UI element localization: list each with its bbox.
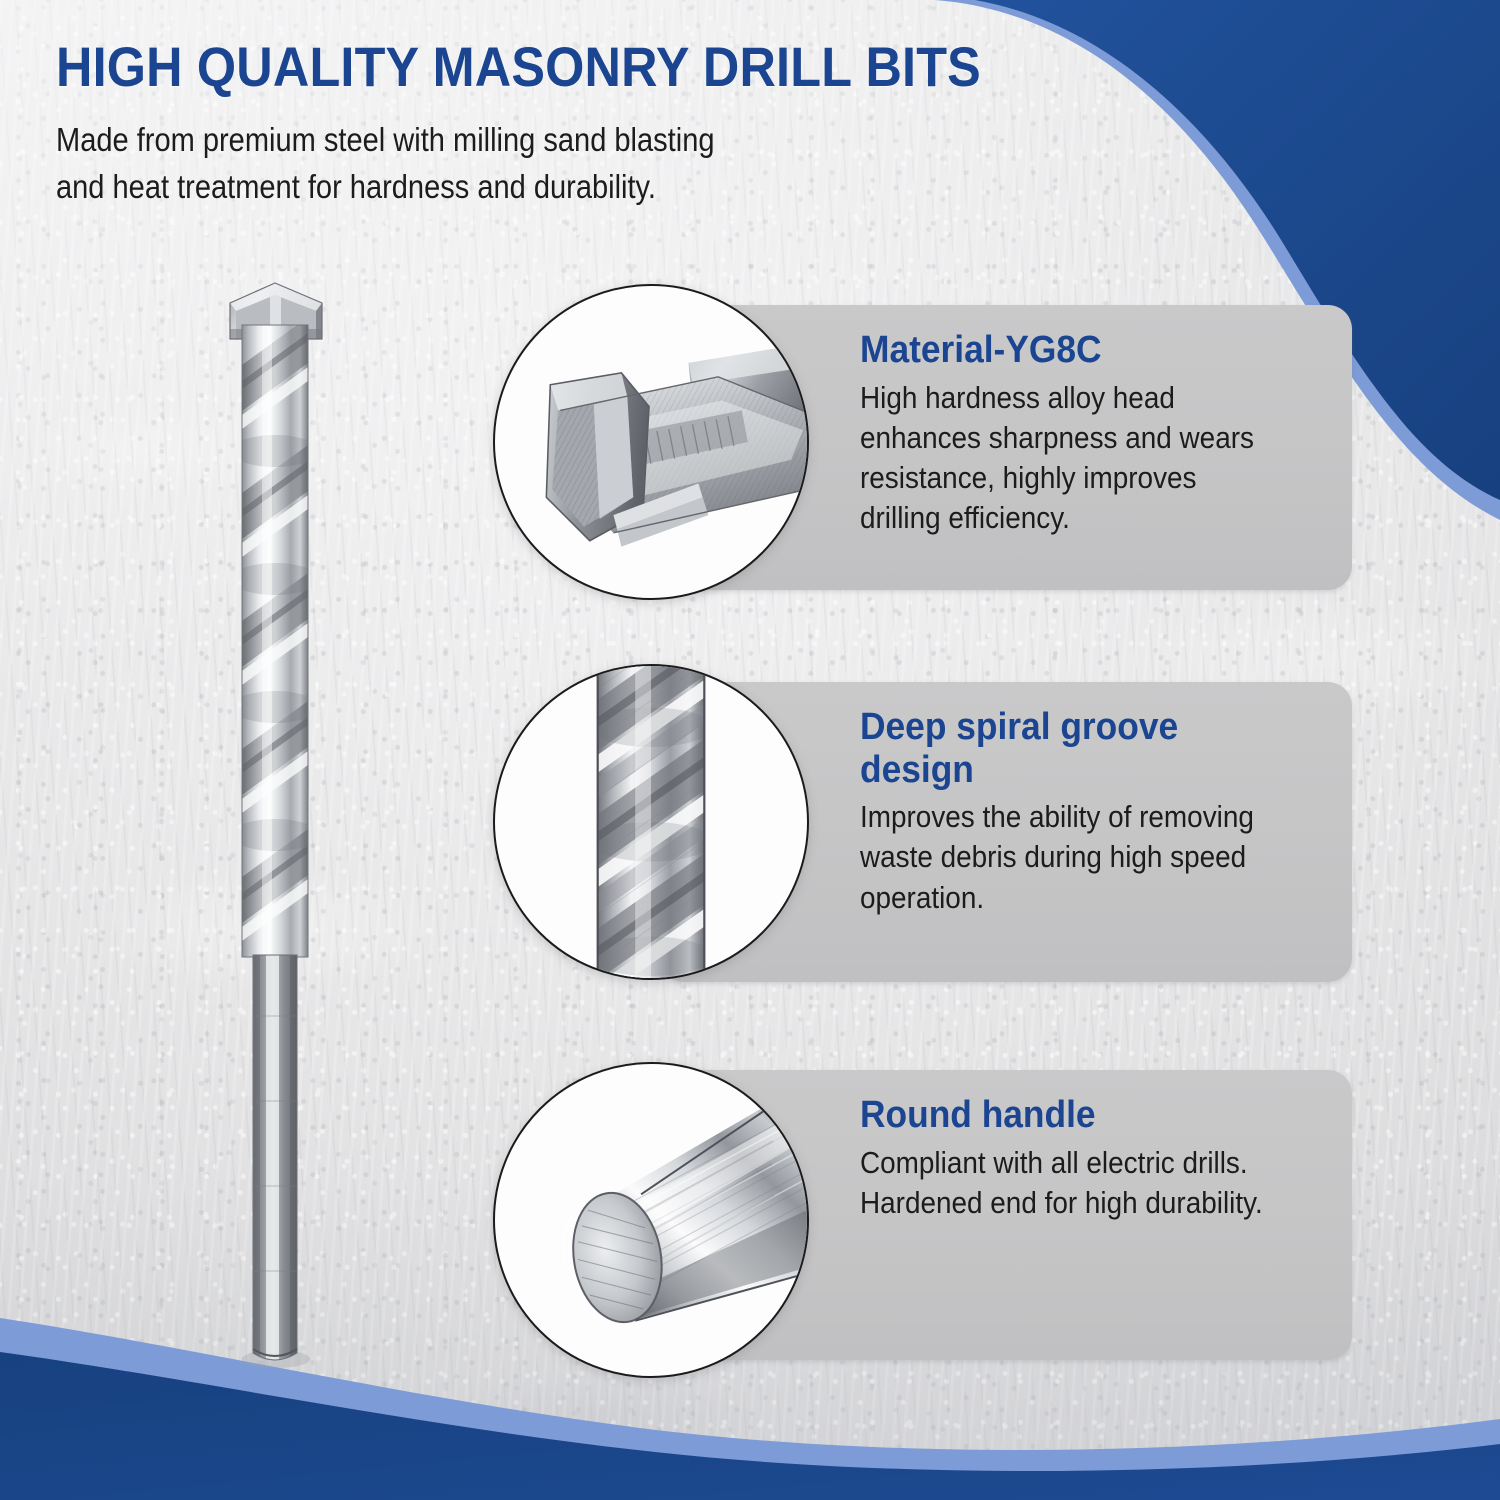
feature-text-spiral-groove: Deep spiral groove design Improves the a…	[860, 706, 1326, 918]
subtitle-line-2: and heat treatment for hardness and dura…	[56, 164, 1094, 211]
feature-text-round-handle: Round handle Compliant with all electric…	[860, 1094, 1326, 1223]
round-shank	[253, 955, 297, 1365]
feature-body-round-handle: Compliant with all electric drills. Hard…	[860, 1143, 1279, 1224]
infographic-stage: HIGH QUALITY MASONRY DRILL BITS Made fro…	[0, 0, 1500, 1500]
feature-title-spiral-groove: Deep spiral groove design	[860, 706, 1293, 791]
header-block: HIGH QUALITY MASONRY DRILL BITS Made fro…	[56, 38, 1236, 211]
feature-title-round-handle: Round handle	[860, 1094, 1293, 1137]
subtitle-line-1: Made from premium steel with milling san…	[56, 117, 1094, 164]
feature-photo-carbide-tip	[493, 284, 809, 600]
product-image-drill-bit	[150, 255, 400, 1385]
feature-text-material: Material-YG8C High hardness alloy head e…	[860, 329, 1326, 539]
feature-body-material: High hardness alloy head enhances sharpn…	[860, 378, 1279, 539]
round-shank-closeup-icon	[495, 1064, 807, 1376]
feature-body-spiral-groove: Improves the ability of removing waste d…	[860, 797, 1279, 918]
feature-title-material: Material-YG8C	[860, 329, 1293, 372]
feature-photo-spiral-flute	[493, 664, 809, 980]
spiral-flute-closeup-icon	[495, 666, 807, 978]
carbide-tip-closeup-icon	[495, 286, 807, 598]
fluted-body	[231, 317, 319, 957]
feature-photo-round-shank	[493, 1062, 809, 1378]
page-subtitle: Made from premium steel with milling san…	[56, 117, 1094, 211]
page-title: HIGH QUALITY MASONRY DRILL BITS	[56, 38, 1118, 95]
